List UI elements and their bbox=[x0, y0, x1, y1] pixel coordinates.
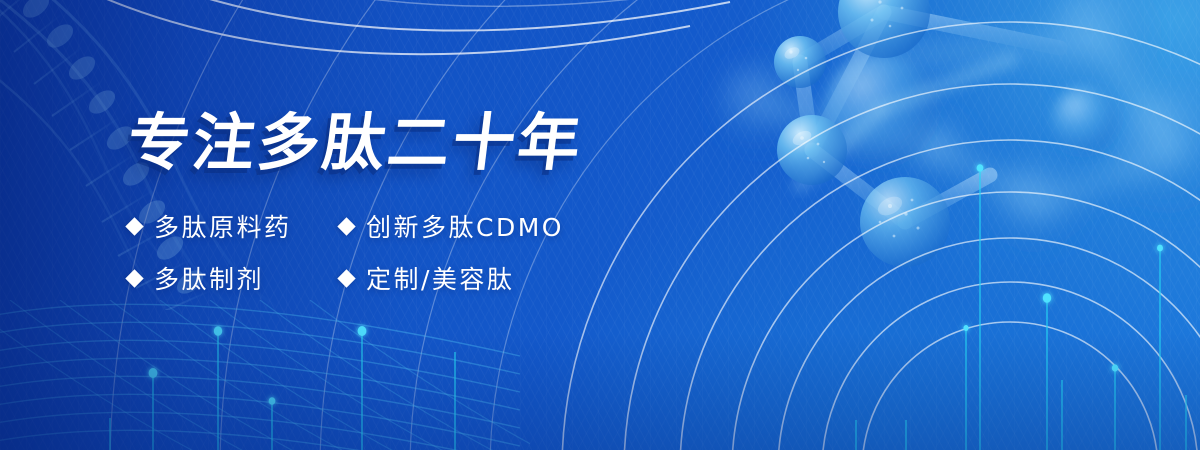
list-item[interactable]: 多肽制剂 bbox=[128, 260, 340, 296]
feature-list: 多肽原料药 创新多肽CDMO 多肽制剂 定制/美容肽 bbox=[128, 200, 583, 304]
diamond-bullet-icon bbox=[125, 217, 143, 235]
page-title: 专注多肽二十年 bbox=[124, 112, 587, 174]
diamond-bullet-icon bbox=[337, 269, 355, 287]
list-item-label: 创新多肽CDMO bbox=[366, 208, 564, 244]
promo-banner: 专注多肽二十年 多肽原料药 创新多肽CDMO 多肽制剂 定制/美容肽 bbox=[0, 0, 1200, 450]
list-item[interactable]: 创新多肽CDMO bbox=[340, 208, 583, 244]
diamond-bullet-icon bbox=[337, 217, 355, 235]
banner-content: 专注多肽二十年 多肽原料药 创新多肽CDMO 多肽制剂 定制/美容肽 bbox=[128, 112, 583, 304]
diamond-bullet-icon bbox=[125, 269, 143, 287]
list-item[interactable]: 定制/美容肽 bbox=[340, 260, 583, 296]
list-item[interactable]: 多肽原料药 bbox=[128, 208, 340, 244]
list-item-label: 定制/美容肽 bbox=[366, 260, 514, 296]
list-item-label: 多肽制剂 bbox=[154, 260, 264, 296]
list-item-label: 多肽原料药 bbox=[154, 208, 292, 244]
